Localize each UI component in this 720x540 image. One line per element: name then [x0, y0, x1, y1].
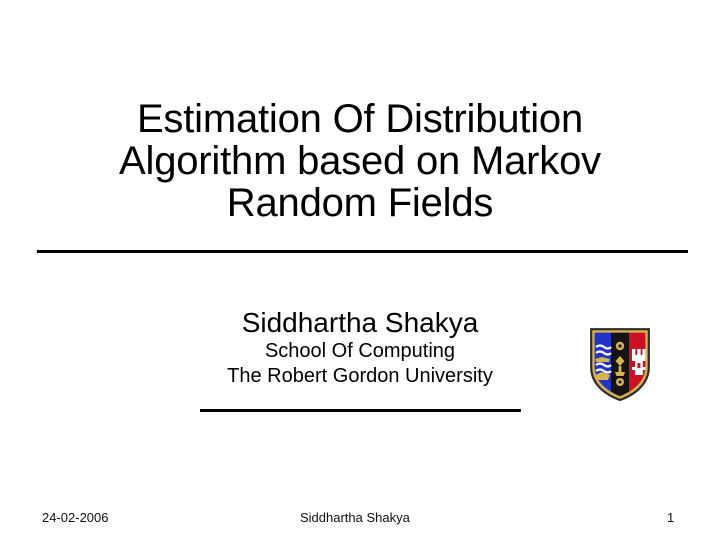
- author-name: Siddhartha Shakya: [160, 306, 560, 339]
- slide-footer: 24-02-2006 Siddhartha Shakya 1: [0, 508, 720, 530]
- footer-date: 24-02-2006: [42, 510, 109, 526]
- title-line-3: Random Fields: [40, 182, 680, 224]
- title-line-2: Algorithm based on Markov: [40, 140, 680, 182]
- slide-title: Estimation Of Distribution Algorithm bas…: [40, 98, 680, 224]
- author-divider: [200, 409, 521, 412]
- author-institution: The Robert Gordon University: [160, 364, 560, 389]
- footer-page-number: 1: [667, 510, 674, 526]
- author-block: Siddhartha Shakya School Of Computing Th…: [160, 306, 560, 389]
- footer-author: Siddhartha Shakya: [300, 510, 410, 526]
- title-divider: [37, 250, 688, 253]
- presentation-slide: Estimation Of Distribution Algorithm bas…: [0, 0, 720, 540]
- author-department: School Of Computing: [160, 339, 560, 364]
- university-crest-icon: [589, 327, 651, 401]
- title-line-1: Estimation Of Distribution: [40, 98, 680, 140]
